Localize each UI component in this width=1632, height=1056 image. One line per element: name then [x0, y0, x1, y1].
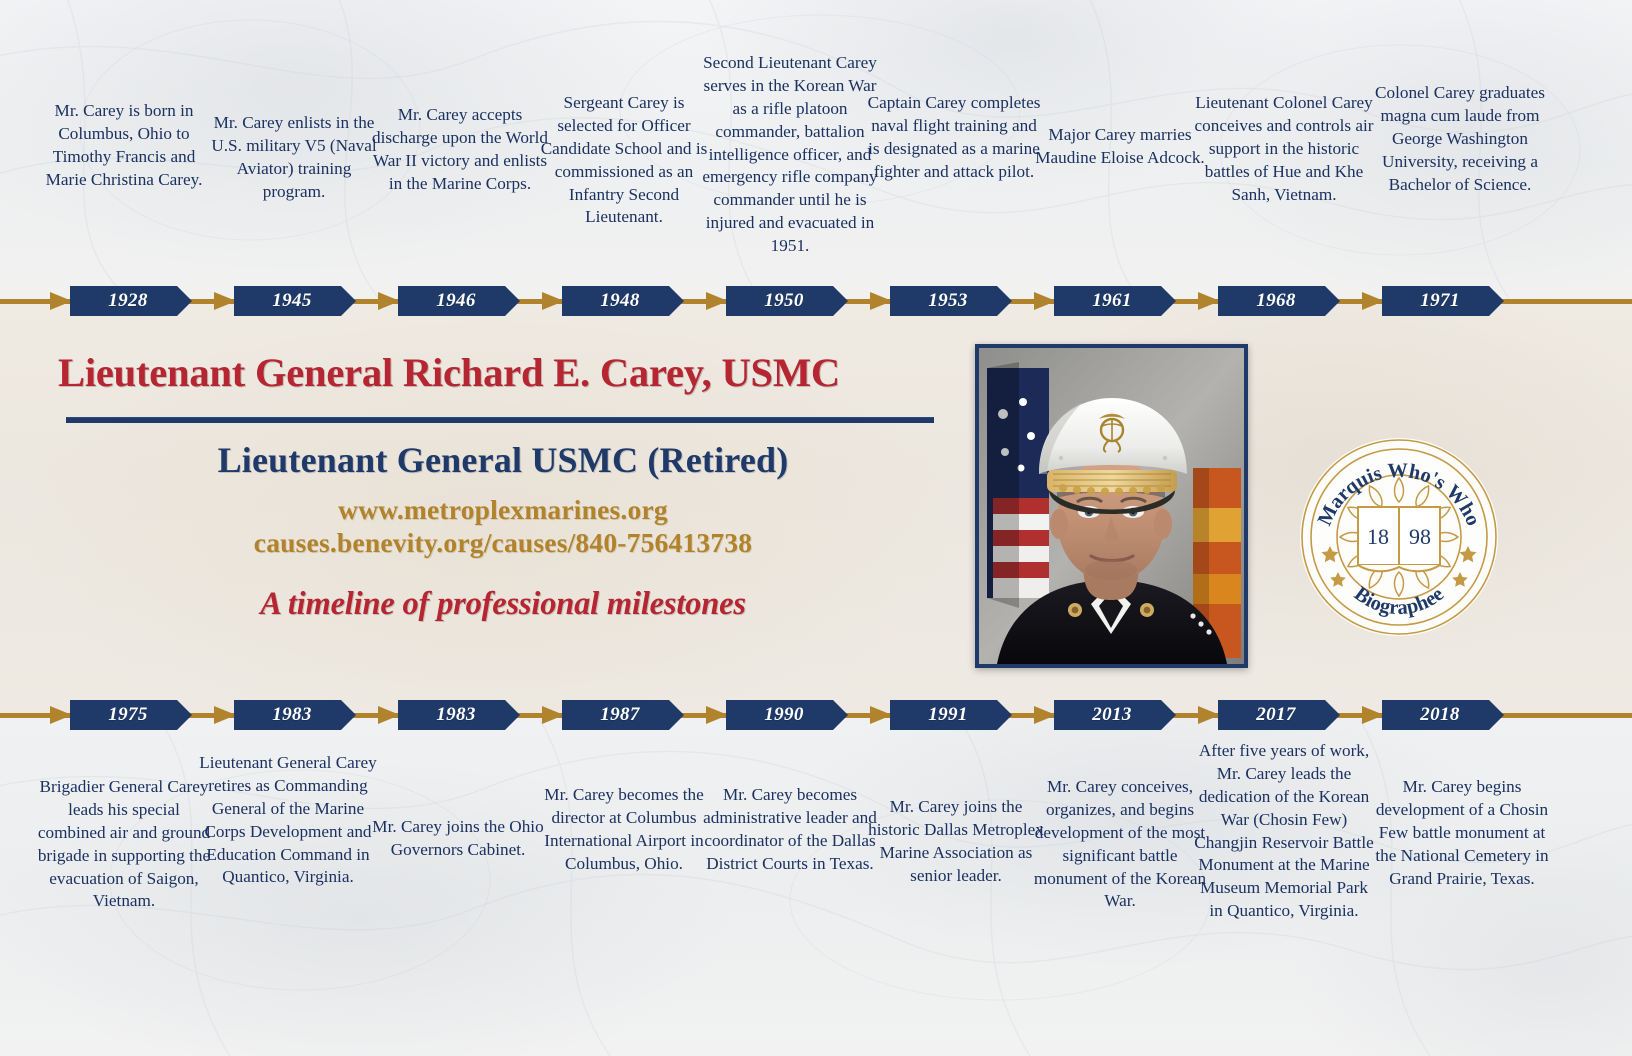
timeline-top-event-1953-5: Captain Carey completes naval flight tra… — [864, 92, 1044, 184]
timeline-bottom-event-1983-2: Mr. Carey joins the Ohio Governors Cabin… — [368, 816, 548, 862]
timeline-bottom-arrowhead-2013 — [1034, 706, 1056, 724]
year-label: 1987 — [600, 704, 640, 726]
year-label: 1945 — [272, 290, 312, 312]
timeline-bottom-arrowhead-2017 — [1198, 706, 1220, 724]
timeline-bottom-arrowhead-1975 — [50, 706, 72, 724]
timeline-bottom-marker-1983-2[interactable]: 1983 — [398, 700, 520, 730]
timeline-top-marker-1950-4[interactable]: 1950 — [726, 286, 848, 316]
timeline-top-event-1950-4: Second Lieutenant Carey serves in the Ko… — [700, 52, 880, 258]
timeline-top-arrowhead-1946 — [378, 292, 400, 310]
hero-tagline: A timeline of professional milestones — [58, 586, 948, 623]
timeline-top-marker-1971-8[interactable]: 1971 — [1382, 286, 1504, 316]
timeline-bottom-event-1975-0: Brigadier General Carey leads his specia… — [34, 776, 214, 913]
timeline-bottom-event-1983-1: Lieutenant General Carey retires as Comm… — [198, 752, 378, 889]
link-benevity-cause[interactable]: causes.benevity.org/causes/840-756413738 — [58, 526, 948, 560]
hero-subtitle: Lieutenant General USMC (Retired) — [58, 439, 948, 481]
timeline-top-arrowhead-1971 — [1362, 292, 1384, 310]
timeline-bottom-event-2013-6: Mr. Carey conceives, organizes, and begi… — [1030, 776, 1210, 913]
timeline-top-event-1948-3: Sergeant Carey is selected for Officer C… — [534, 92, 714, 229]
timeline-bottom-arrowhead-2018 — [1362, 706, 1384, 724]
year-label: 1950 — [764, 290, 804, 312]
timeline-bottom-marker-1987-3[interactable]: 1987 — [562, 700, 684, 730]
timeline-bottom-event-2018-8: Mr. Carey begins development of a Chosin… — [1372, 776, 1552, 890]
hero-block: Lieutenant General Richard E. Carey, USM… — [58, 352, 948, 623]
seal-graphic: 18 98 Marquis Who's Who Biographee — [1296, 434, 1502, 640]
link-metroplexmarines[interactable]: www.metroplexmarines.org — [58, 493, 948, 527]
page-title: Lieutenant General Richard E. Carey, USM… — [58, 352, 948, 395]
year-label: 1975 — [108, 704, 148, 726]
timeline-top-marker-1968-7[interactable]: 1968 — [1218, 286, 1340, 316]
timeline-bottom-marker-2018-8[interactable]: 2018 — [1382, 700, 1504, 730]
timeline-top-arrowhead-1928 — [50, 292, 72, 310]
year-label: 1968 — [1256, 290, 1296, 312]
hero-links: www.metroplexmarines.org causes.benevity… — [58, 493, 948, 560]
year-label: 1948 — [600, 290, 640, 312]
timeline-top-event-1968-7: Lieutenant Colonel Carey conceives and c… — [1194, 92, 1374, 206]
timeline-bottom-arrowhead-1983 — [378, 706, 400, 724]
title-divider — [66, 417, 934, 423]
year-label: 2018 — [1420, 704, 1460, 726]
timeline-top-event-1961-6: Major Carey marries Maudine Eloise Adcoc… — [1030, 124, 1210, 170]
year-label: 1961 — [1092, 290, 1132, 312]
timeline-top-arrowhead-1948 — [542, 292, 564, 310]
timeline-top-marker-1945-1[interactable]: 1945 — [234, 286, 356, 316]
year-label: 2013 — [1092, 704, 1132, 726]
seal-year-left: 18 — [1367, 524, 1389, 549]
marquis-whos-who-seal: 18 98 Marquis Who's Who Biographee — [1296, 434, 1502, 640]
year-label: 1991 — [928, 704, 968, 726]
timeline-top-arrowhead-1961 — [1034, 292, 1056, 310]
timeline-top-arrowhead-1945 — [214, 292, 236, 310]
timeline-top-marker-1948-3[interactable]: 1948 — [562, 286, 684, 316]
timeline-bottom-event-1991-5: Mr. Carey joins the historic Dallas Metr… — [866, 796, 1046, 888]
timeline-bottom-marker-1991-5[interactable]: 1991 — [890, 700, 1012, 730]
year-label: 1946 — [436, 290, 476, 312]
timeline-top-marker-1928-0[interactable]: 1928 — [70, 286, 192, 316]
timeline-top-marker-1953-5[interactable]: 1953 — [890, 286, 1012, 316]
timeline-bottom-marker-1983-1[interactable]: 1983 — [234, 700, 356, 730]
timeline-infographic: Mr. Carey is born in Columbus, Ohio to T… — [0, 0, 1632, 1056]
timeline-top-marker-1961-6[interactable]: 1961 — [1054, 286, 1176, 316]
timeline-bottom-event-2017-7: After five years of work, Mr. Carey lead… — [1194, 740, 1374, 923]
timeline-bottom-arrowhead-1983 — [214, 706, 236, 724]
timeline-bottom-marker-2017-7[interactable]: 2017 — [1218, 700, 1340, 730]
timeline-bottom-marker-1975-0[interactable]: 1975 — [70, 700, 192, 730]
year-label: 1990 — [764, 704, 804, 726]
timeline-bottom-arrowhead-1990 — [706, 706, 728, 724]
year-label: 1971 — [1420, 290, 1460, 312]
year-label: 1928 — [108, 290, 148, 312]
timeline-top-event-1945-1: Mr. Carey enlists in the U.S. military V… — [204, 112, 384, 204]
portrait-photo — [975, 344, 1248, 668]
timeline-bottom-marker-1990-4[interactable]: 1990 — [726, 700, 848, 730]
timeline-bottom-marker-2013-6[interactable]: 2013 — [1054, 700, 1176, 730]
timeline-top-event-1971-8: Colonel Carey graduates magna cum laude … — [1370, 82, 1550, 196]
portrait-image — [979, 348, 1244, 664]
timeline-top-marker-1946-2[interactable]: 1946 — [398, 286, 520, 316]
timeline-top-arrowhead-1968 — [1198, 292, 1220, 310]
year-label: 1953 — [928, 290, 968, 312]
timeline-bottom-arrowhead-1991 — [870, 706, 892, 724]
seal-year-right: 98 — [1409, 524, 1431, 549]
year-label: 1983 — [436, 704, 476, 726]
timeline-bottom-event-1987-3: Mr. Carey becomes the director at Columb… — [534, 784, 714, 876]
timeline-rail-bottom: 197519831983198719901991201320172018 — [0, 700, 1632, 730]
timeline-rail-top: 192819451946194819501953196119681971 — [0, 286, 1632, 316]
timeline-top-arrowhead-1953 — [870, 292, 892, 310]
timeline-top-event-1946-2: Mr. Carey accepts discharge upon the Wor… — [370, 104, 550, 196]
year-label: 2017 — [1256, 704, 1296, 726]
timeline-bottom-arrowhead-1987 — [542, 706, 564, 724]
timeline-top-event-1928-0: Mr. Carey is born in Columbus, Ohio to T… — [34, 100, 214, 192]
timeline-bottom-event-1990-4: Mr. Carey becomes administrative leader … — [700, 784, 880, 876]
year-label: 1983 — [272, 704, 312, 726]
timeline-top-arrowhead-1950 — [706, 292, 728, 310]
